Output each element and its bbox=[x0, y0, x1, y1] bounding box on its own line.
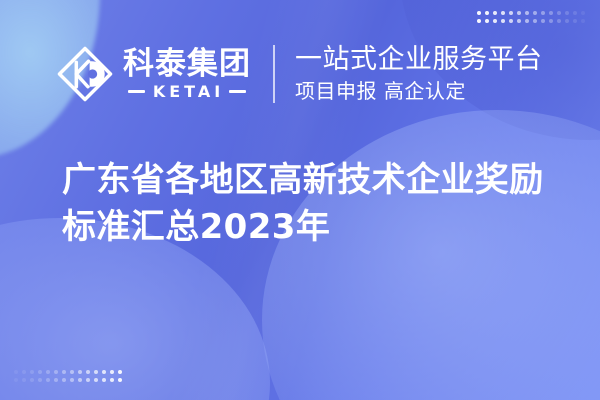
brand-wordmark: 科泰集团 KETAI bbox=[123, 48, 251, 100]
decorative-dot bbox=[565, 19, 569, 23]
decorative-dot bbox=[86, 370, 90, 374]
decorative-dot bbox=[14, 370, 18, 374]
decorative-dot bbox=[118, 378, 122, 382]
decorative-dot bbox=[557, 11, 561, 15]
decorative-dot bbox=[541, 19, 545, 23]
decorative-dot bbox=[525, 19, 529, 23]
decorative-dot bbox=[94, 378, 98, 382]
decorative-dot bbox=[581, 11, 585, 15]
tagline-primary: 一站式企业服务平台 bbox=[295, 43, 543, 76]
decorative-dot bbox=[581, 19, 585, 23]
dot-row bbox=[14, 378, 126, 382]
decorative-dot bbox=[46, 370, 50, 374]
background-blob-right bbox=[262, 110, 600, 400]
decorative-dot bbox=[102, 370, 106, 374]
decorative-dot bbox=[62, 370, 66, 374]
decorative-dot bbox=[501, 11, 505, 15]
decorative-dot bbox=[78, 378, 82, 382]
decorative-dot bbox=[517, 19, 521, 23]
decorative-dot bbox=[517, 11, 521, 15]
decorative-dot bbox=[485, 11, 489, 15]
page-title: 广东省各地区高新技术企业奖励标准汇总2023年 bbox=[62, 157, 567, 251]
dot-row bbox=[14, 370, 126, 374]
decorative-dot bbox=[509, 19, 513, 23]
decorative-dot bbox=[30, 378, 34, 382]
decorative-dot bbox=[38, 370, 42, 374]
decorative-dot bbox=[477, 11, 481, 15]
decorative-dot bbox=[110, 378, 114, 382]
decorative-dot bbox=[549, 19, 553, 23]
decorative-dot bbox=[557, 19, 561, 23]
decorative-dot bbox=[86, 378, 90, 382]
decorative-dot bbox=[22, 378, 26, 382]
decorative-dot bbox=[30, 370, 34, 374]
decorative-dot bbox=[46, 378, 50, 382]
decorative-dot bbox=[573, 19, 577, 23]
brand-name-en-row: KETAI bbox=[123, 83, 251, 100]
decorative-dot bbox=[501, 19, 505, 23]
brand-name-en: KETAI bbox=[145, 83, 229, 100]
decorative-dot bbox=[78, 370, 82, 374]
tagline-secondary: 项目申报 高企认定 bbox=[295, 77, 543, 105]
decorative-dot bbox=[54, 378, 58, 382]
tagline: 一站式企业服务平台 项目申报 高企认定 bbox=[295, 43, 543, 105]
dot-pattern-bottom-left bbox=[14, 370, 126, 386]
decorative-dot bbox=[54, 370, 58, 374]
decorative-dot bbox=[62, 378, 66, 382]
brand-name-cn: 科泰集团 bbox=[123, 48, 251, 81]
decorative-dot bbox=[533, 19, 537, 23]
dot-row bbox=[477, 11, 589, 15]
decorative-dot bbox=[541, 11, 545, 15]
decorative-dot bbox=[118, 370, 122, 374]
decorative-dot bbox=[573, 11, 577, 15]
decorative-dot bbox=[22, 370, 26, 374]
decorative-dot bbox=[14, 378, 18, 382]
decorative-dot bbox=[70, 378, 74, 382]
decorative-dot bbox=[94, 370, 98, 374]
dot-row bbox=[477, 19, 589, 23]
dot-pattern-top-right bbox=[477, 11, 589, 27]
decorative-dot bbox=[533, 11, 537, 15]
decorative-dot bbox=[70, 370, 74, 374]
decorative-dot bbox=[565, 11, 569, 15]
brand-logo: 科泰集团 KETAI bbox=[56, 45, 251, 103]
decorative-dot bbox=[525, 11, 529, 15]
banner-header: 科泰集团 KETAI 一站式企业服务平台 项目申报 高企认定 bbox=[0, 38, 600, 110]
promotional-banner: 科泰集团 KETAI 一站式企业服务平台 项目申报 高企认定 广东省各地区高新技… bbox=[0, 0, 600, 400]
decorative-dot bbox=[509, 11, 513, 15]
decorative-dot bbox=[110, 370, 114, 374]
ketai-diamond-kd-monogram-icon bbox=[56, 45, 114, 103]
decorative-dot bbox=[477, 19, 481, 23]
wordmark-dash-right bbox=[229, 90, 246, 93]
decorative-dot bbox=[493, 11, 497, 15]
decorative-dot bbox=[549, 11, 553, 15]
decorative-dot bbox=[102, 378, 106, 382]
decorative-dot bbox=[38, 378, 42, 382]
decorative-dot bbox=[485, 19, 489, 23]
wordmark-dash-left bbox=[128, 90, 145, 93]
header-divider bbox=[273, 45, 275, 103]
decorative-dot bbox=[493, 19, 497, 23]
